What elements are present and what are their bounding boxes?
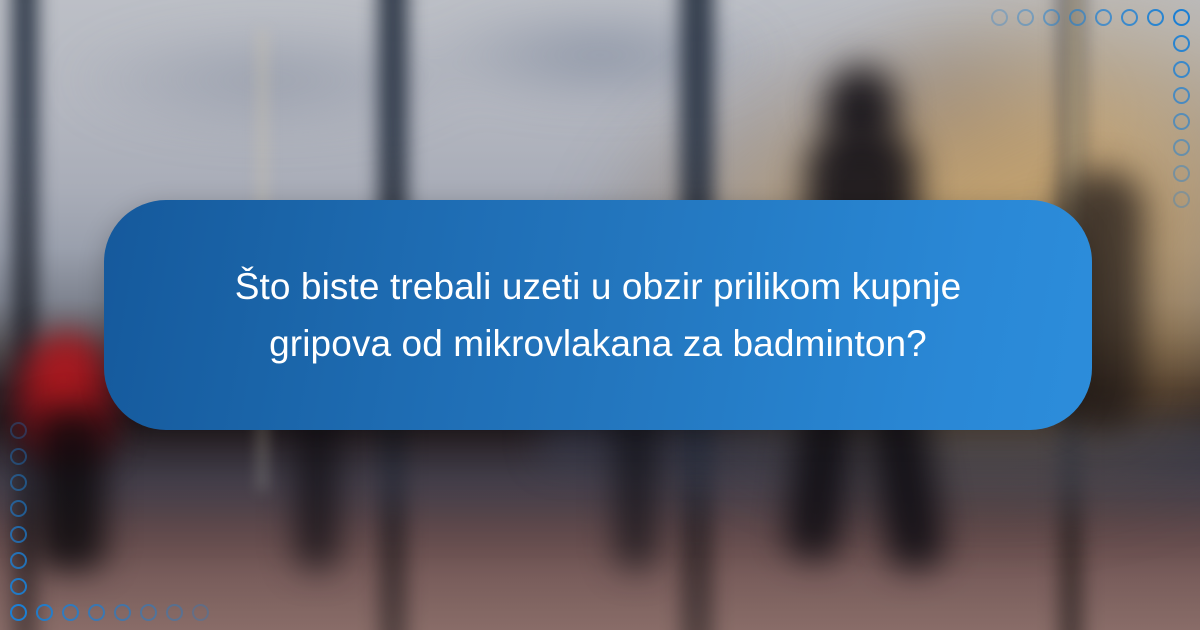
decor-dot [1173, 139, 1190, 156]
decor-dot [1043, 9, 1060, 26]
decor-dot [1173, 61, 1190, 78]
decor-dot [10, 448, 27, 465]
decor-dot [114, 604, 131, 621]
decor-dot [1173, 35, 1190, 52]
decor-dot [1121, 9, 1138, 26]
decor-dot [10, 474, 27, 491]
decor-dot [1173, 113, 1190, 130]
decor-dot [1173, 87, 1190, 104]
decor-dot [88, 604, 105, 621]
decor-dot [10, 422, 27, 439]
decor-dot [140, 604, 157, 621]
decor-dot [1017, 9, 1034, 26]
decor-dot [1173, 191, 1190, 208]
decor-dot [166, 604, 183, 621]
decor-dot [1173, 9, 1190, 26]
decor-dot [10, 500, 27, 517]
og-image-canvas: Što biste trebali uzeti u obzir prilikom… [0, 0, 1200, 630]
decor-dot [1147, 9, 1164, 26]
decor-dot [10, 578, 27, 595]
decor-dot [10, 526, 27, 543]
decor-dot [36, 604, 53, 621]
question-text: Što biste trebali uzeti u obzir prilikom… [198, 258, 998, 373]
decor-dot [1069, 9, 1086, 26]
decor-dot [62, 604, 79, 621]
question-card: Što biste trebali uzeti u obzir prilikom… [104, 200, 1092, 430]
decor-dot [10, 552, 27, 569]
decor-dot [10, 604, 27, 621]
decor-dot [991, 9, 1008, 26]
decor-dot [1095, 9, 1112, 26]
decor-dot [192, 604, 209, 621]
decor-dot [1173, 165, 1190, 182]
